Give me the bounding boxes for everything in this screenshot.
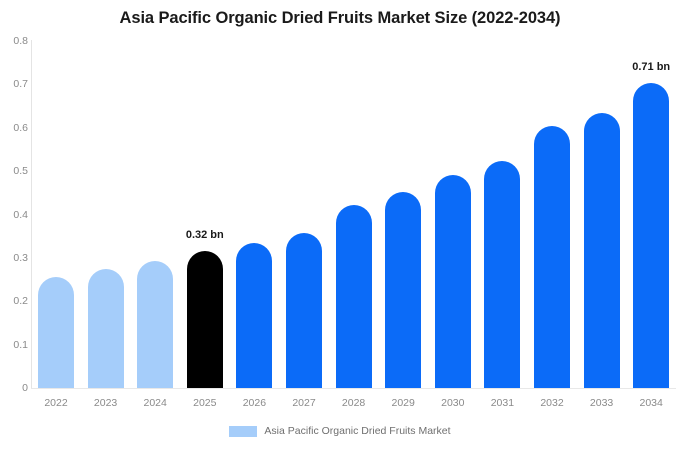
x-axis-tick-label: 2034 <box>640 397 663 409</box>
chart-bar[interactable] <box>584 113 620 388</box>
chart-bar[interactable] <box>435 175 471 388</box>
chart-bar[interactable] <box>187 251 223 388</box>
chart-bar[interactable] <box>286 233 322 388</box>
x-axis-tick-label: 2033 <box>590 397 613 409</box>
chart-bar[interactable] <box>534 126 570 388</box>
x-axis-tick-label: 2023 <box>94 397 117 409</box>
chart-bar[interactable] <box>385 192 421 388</box>
chart-bar[interactable] <box>236 243 272 388</box>
chart-title: Asia Pacific Organic Dried Fruits Market… <box>0 9 680 28</box>
x-axis-tick-label: 2028 <box>342 397 365 409</box>
bars-layer <box>0 41 680 388</box>
bar-chart: Asia Pacific Organic Dried Fruits Market… <box>0 0 680 450</box>
chart-bar[interactable] <box>88 269 124 388</box>
x-axis-tick-label: 2030 <box>441 397 464 409</box>
bar-value-label: 0.32 bn <box>186 229 224 241</box>
x-axis-tick-label: 2029 <box>392 397 415 409</box>
x-axis-tick-label: 2032 <box>540 397 563 409</box>
legend-swatch <box>229 426 257 437</box>
chart-legend: Asia Pacific Organic Dried Fruits Market <box>0 425 680 437</box>
x-axis-tick-label: 2026 <box>243 397 266 409</box>
chart-bar[interactable] <box>137 261 173 388</box>
legend-label: Asia Pacific Organic Dried Fruits Market <box>264 425 450 437</box>
x-axis-tick-label: 2025 <box>193 397 216 409</box>
bar-value-label: 0.71 bn <box>632 61 670 73</box>
chart-bar[interactable] <box>484 161 520 388</box>
x-axis-tick-label: 2031 <box>491 397 514 409</box>
chart-bar[interactable] <box>336 205 372 388</box>
x-axis-tick-label: 2022 <box>44 397 67 409</box>
x-axis-line <box>31 388 676 389</box>
chart-bar[interactable] <box>38 277 74 388</box>
x-axis-tick-label: 2027 <box>292 397 315 409</box>
chart-bar[interactable] <box>633 83 669 388</box>
x-axis-tick-label: 2024 <box>144 397 167 409</box>
